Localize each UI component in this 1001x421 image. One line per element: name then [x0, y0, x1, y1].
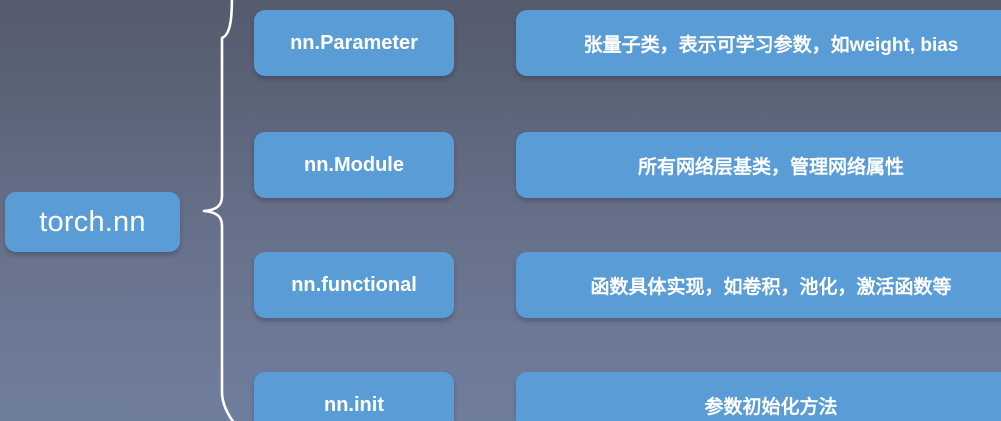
root-node-torch-nn[interactable]: torch.nn	[5, 192, 180, 252]
description-text: 张量子类，表示可学习参数，如weight, bias	[584, 30, 959, 57]
description-text: 函数具体实现，如卷积，池化，激活函数等	[590, 272, 951, 299]
branch-node-nn-init[interactable]: nn.init	[254, 372, 454, 421]
branch-node-nn-module[interactable]: nn.Module	[254, 132, 454, 198]
diagram-canvas: torch.nn nn.Parameter nn.Module nn.funct…	[0, 0, 1001, 421]
description-box-nn-parameter[interactable]: 张量子类，表示可学习参数，如weight, bias	[516, 10, 1001, 76]
branch-node-label: nn.functional	[291, 274, 417, 297]
root-node-label: torch.nn	[39, 206, 145, 239]
branch-node-label: nn.Module	[304, 154, 404, 177]
description-box-nn-module[interactable]: 所有网络层基类，管理网络属性	[516, 132, 1001, 198]
description-text: 所有网络层基类，管理网络属性	[638, 152, 904, 179]
description-text: 参数初始化方法	[704, 392, 837, 419]
description-box-nn-init[interactable]: 参数初始化方法	[516, 372, 1001, 421]
description-box-nn-functional[interactable]: 函数具体实现，如卷积，池化，激活函数等	[516, 252, 1001, 318]
branch-node-label: nn.init	[324, 394, 384, 417]
branch-node-nn-functional[interactable]: nn.functional	[254, 252, 454, 318]
branch-node-nn-parameter[interactable]: nn.Parameter	[254, 10, 454, 76]
branch-node-label: nn.Parameter	[290, 32, 418, 55]
